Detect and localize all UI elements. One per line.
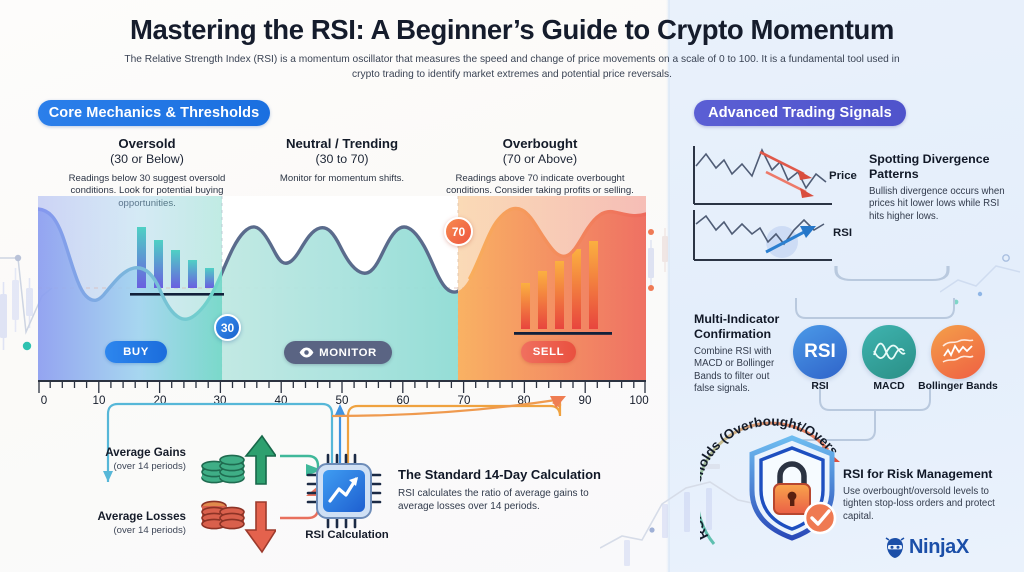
average-gains-label: Average Gains (over 14 periods) <box>56 446 186 473</box>
axis-tick-labels: 0 10 20 30 40 50 60 70 80 90 100 <box>38 394 646 410</box>
standard-calculation-desc: RSI calculates the ratio of average gain… <box>398 487 623 514</box>
indicator-badge-rsi-text: RSI <box>804 341 836 363</box>
page-title: Mastering the RSI: A Beginner’s Guide to… <box>0 14 1024 46</box>
risk-management-title: RSI for Risk Management <box>843 467 1019 482</box>
average-losses-label: Average Losses (over 14 periods) <box>56 510 186 537</box>
average-gains-title: Average Gains <box>56 446 186 460</box>
indicator-caption-rsi: RSI <box>790 381 850 392</box>
axis-tick-30: 30 <box>214 394 227 407</box>
axis-tick-50: 50 <box>336 394 349 407</box>
axis-ticks <box>38 380 646 394</box>
axis-tick-20: 20 <box>154 394 167 407</box>
zone-tag-buy[interactable]: BUY <box>105 341 167 363</box>
zone-tag-monitor-label: MONITOR <box>319 347 377 359</box>
multi-indicator-desc: Combine RSI with MACD or Bollinger Bands… <box>694 346 792 396</box>
divergence-title: Spotting Divergence Patterns <box>869 152 1015 182</box>
zone-tag-monitor[interactable]: MONITOR <box>284 341 392 364</box>
zone-tag-sell-label: SELL <box>533 346 565 358</box>
indicator-caption-bollinger: Bollinger Bands <box>906 381 1010 392</box>
indicator-badge-bollinger <box>931 325 985 379</box>
svg-text:RSI Thresholds (Overbought/Ove: RSI Thresholds (Overbought/Oversold) <box>700 410 841 542</box>
zone-title-oversold: Oversold <box>52 136 242 152</box>
indicator-badge-rsi: RSI <box>793 325 847 379</box>
zone-heading-overbought: Overbought (70 or Above) Readings above … <box>440 136 640 198</box>
brand-logo: NinjaX <box>884 536 969 559</box>
multi-indicator-title: Multi-Indicator Confirmation <box>694 312 792 342</box>
threshold-marker-70: 70 <box>444 217 473 246</box>
axis-tick-10: 10 <box>93 394 106 407</box>
axis-tick-70: 70 <box>458 394 471 407</box>
section-header-advanced-signals: Advanced Trading Signals <box>694 100 906 126</box>
section-header-core-mechanics: Core Mechanics & Thresholds <box>38 100 270 126</box>
zone-heading-neutral: Neutral / Trending (30 to 70) Monitor fo… <box>252 136 432 185</box>
zone-tag-sell[interactable]: SELL <box>521 341 576 363</box>
zone-range-overbought: (70 or Above) <box>440 152 640 167</box>
axis-tick-100: 100 <box>629 394 648 407</box>
multi-indicator-text-block: Multi-Indicator Confirmation Combine RSI… <box>694 312 792 396</box>
zone-tag-buy-label: BUY <box>123 346 149 358</box>
rsi-chart-label: RSI <box>833 227 852 239</box>
axis-tick-60: 60 <box>397 394 410 407</box>
rsi-calculation-caption: RSI Calculation <box>289 529 405 541</box>
axis-tick-40: 40 <box>275 394 288 407</box>
zone-range-neutral: (30 to 70) <box>252 152 432 167</box>
zone-title-overbought: Overbought <box>440 136 640 152</box>
price-chart-label: Price <box>829 170 857 182</box>
risk-management-text-block: RSI for Risk Management Use overbought/o… <box>843 467 1019 524</box>
macd-wave-icon <box>872 339 906 365</box>
average-gains-sub: (over 14 periods) <box>56 460 186 473</box>
average-losses-title: Average Losses <box>56 510 186 524</box>
risk-management-desc: Use overbought/oversold levels to tighte… <box>843 486 1019 524</box>
axis-tick-90: 90 <box>579 394 592 407</box>
brand-logo-text: NinjaX <box>909 536 969 559</box>
indicator-badge-macd <box>862 325 916 379</box>
rsi-thresholds-arc: RSI Thresholds (Overbought/Oversold) <box>700 410 850 560</box>
zone-range-oversold: (30 or Below) <box>52 152 242 167</box>
zone-title-neutral: Neutral / Trending <box>252 136 432 152</box>
average-losses-sub: (over 14 periods) <box>56 524 186 537</box>
bollinger-bands-icon <box>941 338 975 366</box>
standard-calculation-block: The Standard 14-Day Calculation RSI calc… <box>398 466 623 514</box>
eye-icon <box>299 347 314 358</box>
divergence-desc: Bullish divergence occurs when prices hi… <box>869 186 1015 224</box>
axis-tick-0: 0 <box>41 394 47 407</box>
threshold-marker-30: 30 <box>214 314 241 341</box>
zone-desc-overbought: Readings above 70 indicate overbought co… <box>440 173 640 198</box>
rsi-axis: 0 10 20 30 40 50 60 70 80 90 100 <box>38 380 646 410</box>
page-subtitle: The Relative Strength Index (RSI) is a m… <box>120 52 904 82</box>
panel-divider <box>666 0 670 572</box>
standard-calculation-title: The Standard 14-Day Calculation <box>398 466 623 483</box>
zone-desc-neutral: Monitor for momentum shifts. <box>252 173 432 185</box>
rsi-thresholds-arc-label: RSI Thresholds (Overbought/Oversold) <box>700 410 841 542</box>
divergence-text-block: Spotting Divergence Patterns Bullish div… <box>869 152 1015 223</box>
axis-tick-80: 80 <box>518 394 531 407</box>
ninja-mask-icon <box>884 537 906 559</box>
